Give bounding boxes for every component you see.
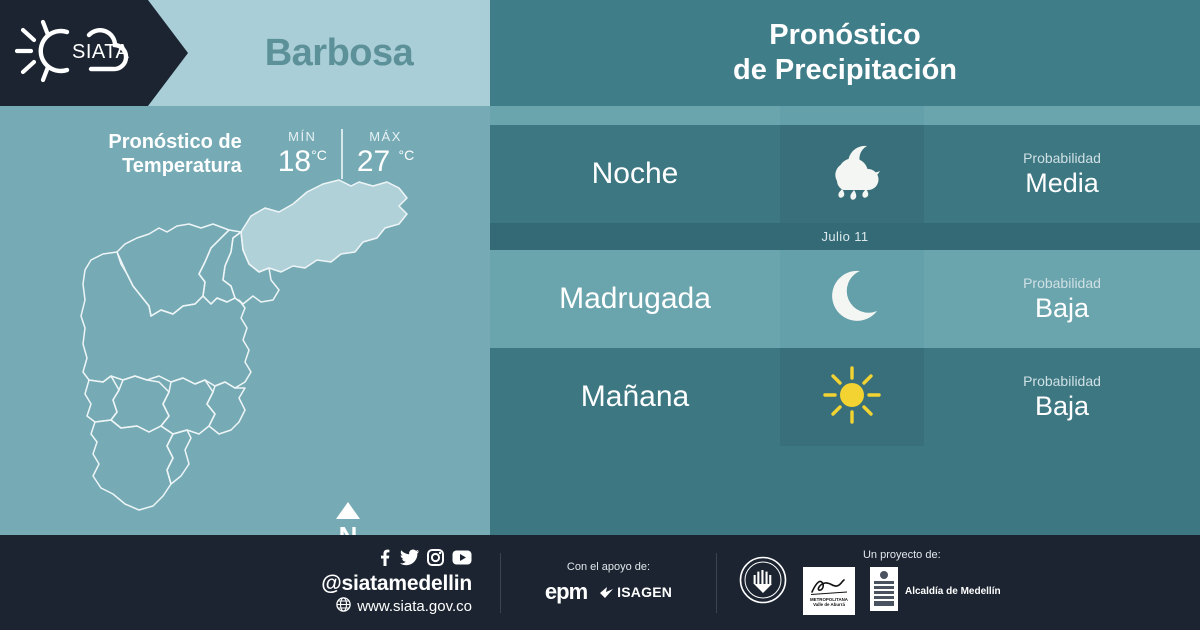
epm-logo[interactable]: epm [545, 579, 587, 605]
social-icon-row [377, 549, 472, 571]
map-region-south-extra [167, 430, 191, 484]
forecast-row[interactable]: Mañana [490, 348, 1200, 446]
isagen-wordmark: ISAGEN [617, 584, 672, 600]
temperature-min-value: 18°C [278, 145, 327, 178]
sun-cloud-icon: SIATA [12, 18, 134, 89]
left-body: Pronóstico de Temperatura MÍN 18°C MÁX 2… [0, 106, 490, 535]
temperature-title-line2: Temperatura [62, 154, 242, 178]
aburra-valley-map[interactable]: N [55, 176, 455, 528]
forecast-row[interactable]: Noche Probabilidad Media [490, 125, 1200, 223]
forecast-row[interactable]: Madrugada Probabilidad Baja [490, 250, 1200, 348]
website-link[interactable]: www.siata.gov.co [336, 597, 472, 616]
moon-icon [824, 268, 880, 331]
siata-wordmark: SIATA [72, 41, 129, 63]
siata-logo-badge[interactable]: SIATA [0, 0, 188, 106]
footer-support-block: Con el apoyo de: epm ISAGEN [501, 535, 716, 630]
instagram-icon[interactable] [427, 549, 444, 571]
temperature-min: MÍN 18°C [264, 129, 343, 179]
support-caption: Con el apoyo de: [567, 561, 650, 573]
social-handle[interactable]: @siatamedellin [321, 572, 472, 596]
temperature-max-label: MÁX [357, 129, 414, 144]
probability-cell: Probabilidad Baja [924, 250, 1200, 348]
precipitation-title-line2: de Precipitación [733, 53, 957, 88]
period-label: Noche [490, 125, 780, 223]
map-region-envigado [111, 376, 169, 432]
facebook-icon[interactable] [377, 549, 392, 571]
north-arrow-icon [331, 501, 365, 521]
probability-label: Probabilidad [1023, 274, 1101, 293]
map-region-copacabana [199, 230, 241, 304]
probability-value: Baja [1035, 391, 1089, 422]
weather-icon-cell [780, 250, 924, 348]
probability-value: Media [1025, 168, 1099, 199]
website-url: www.siata.gov.co [357, 598, 472, 615]
probability-cell: Probabilidad Baja [924, 348, 1200, 446]
twitter-icon[interactable] [400, 549, 419, 571]
temperature-title-line1: Pronóstico de [62, 130, 242, 154]
support-logo-row: epm ISAGEN [545, 579, 672, 605]
map-region-laestrella [207, 382, 245, 434]
footer: @siatamedellin www.siata.gov.co Con el a… [0, 535, 1200, 630]
alcaldia-label: Alcaldía de Medellín [905, 586, 1001, 597]
alcaldia-shield-icon [869, 566, 899, 617]
isagen-mark-icon [599, 585, 614, 599]
sun-icon [821, 364, 883, 431]
city-title: Barbosa [188, 0, 490, 106]
alcaldia-medellin-logo[interactable]: Alcaldía de Medellín [869, 566, 1001, 617]
youtube-icon[interactable] [452, 550, 472, 570]
precipitation-header: Pronóstico de Precipitación [490, 0, 1200, 106]
isagen-logo[interactable]: ISAGEN [599, 584, 672, 600]
project-caption: Un proyecto de: [863, 549, 941, 561]
footer-social-block: @siatamedellin www.siata.gov.co [0, 535, 500, 630]
temperature-values: MÍN 18°C MÁX 27 °C [264, 129, 429, 179]
map-region-medellin [81, 252, 251, 388]
weather-icon-cell [780, 125, 924, 223]
right-panel: Pronóstico de Precipitación Julio 10 Tar… [490, 0, 1200, 535]
temperature-title: Pronóstico de Temperatura [62, 130, 242, 178]
temperature-max-unit: °C [399, 147, 415, 163]
area-metropolitana-logo[interactable]: METROPOLITANA Valle de Aburrá [803, 567, 855, 615]
map-region-caldas [91, 420, 173, 510]
left-header: SIATA Barbosa [0, 0, 490, 106]
probability-cell: Probabilidad Media [924, 125, 1200, 223]
date-band-day2: Julio 11 [490, 223, 1200, 250]
map-region-sabaneta [161, 378, 215, 434]
infographic-canvas: SIATA Barbosa Pronóstico de Temperatura … [0, 0, 1200, 630]
probability-label: Probabilidad [1023, 149, 1101, 168]
period-label: Madrugada [490, 250, 780, 348]
temperature-max: MÁX 27 °C [343, 129, 428, 179]
project-logo-row: METROPOLITANA Valle de Aburrá [803, 566, 1001, 617]
area-script-icon [808, 575, 850, 597]
temperature-min-label: MÍN [278, 129, 327, 144]
globe-icon [336, 597, 351, 616]
probability-label: Probabilidad [1023, 372, 1101, 391]
left-panel: SIATA Barbosa Pronóstico de Temperatura … [0, 0, 490, 535]
temperature-max-value: 27 °C [357, 145, 414, 178]
probability-value: Baja [1035, 293, 1089, 324]
unal-seal-icon[interactable] [739, 556, 787, 609]
footer-project-block: Un proyecto de: METROPOLITANA Valle de A… [717, 535, 1200, 630]
moon-cloud-rain-icon [819, 141, 885, 208]
period-label: Mañana [490, 348, 780, 446]
temperature-min-unit: °C [311, 147, 327, 163]
precipitation-title-line1: Pronóstico [769, 18, 920, 53]
area-sub2: Valle de Aburrá [813, 602, 845, 608]
weather-icon-cell [780, 348, 924, 446]
map-region-barbosa [241, 180, 407, 272]
project-inner: Un proyecto de: METROPOLITANA Valle de A… [803, 549, 1001, 617]
